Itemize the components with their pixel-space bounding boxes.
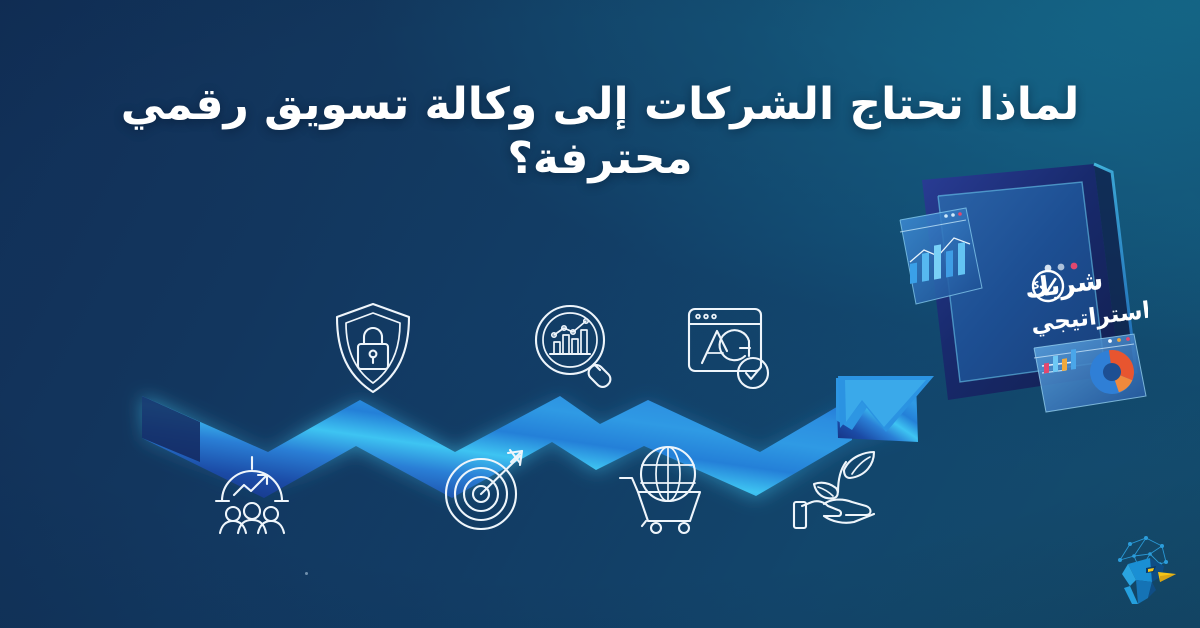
audience-growth-icon [206, 443, 298, 535]
analytics-magnifier-icon [530, 302, 626, 396]
shield-lock-icon [330, 300, 416, 396]
strategic-partner-screen: شريك استراتيجي [898, 158, 1148, 428]
donut-chart-card [1034, 334, 1146, 412]
globe-cart-icon [614, 442, 710, 534]
decorative-speck [305, 572, 308, 575]
target-arrow-icon [440, 445, 532, 533]
page-title: لماذا تحتاج الشركات إلى وكالة تسويق رقمي… [0, 78, 1200, 185]
poster-canvas: لماذا تحتاج الشركات إلى وكالة تسويق رقمي… [0, 0, 1200, 628]
falcon-head-logo [1106, 530, 1180, 610]
ads-verified-window-icon [683, 303, 775, 393]
hand-plant-growth-icon [790, 440, 886, 536]
